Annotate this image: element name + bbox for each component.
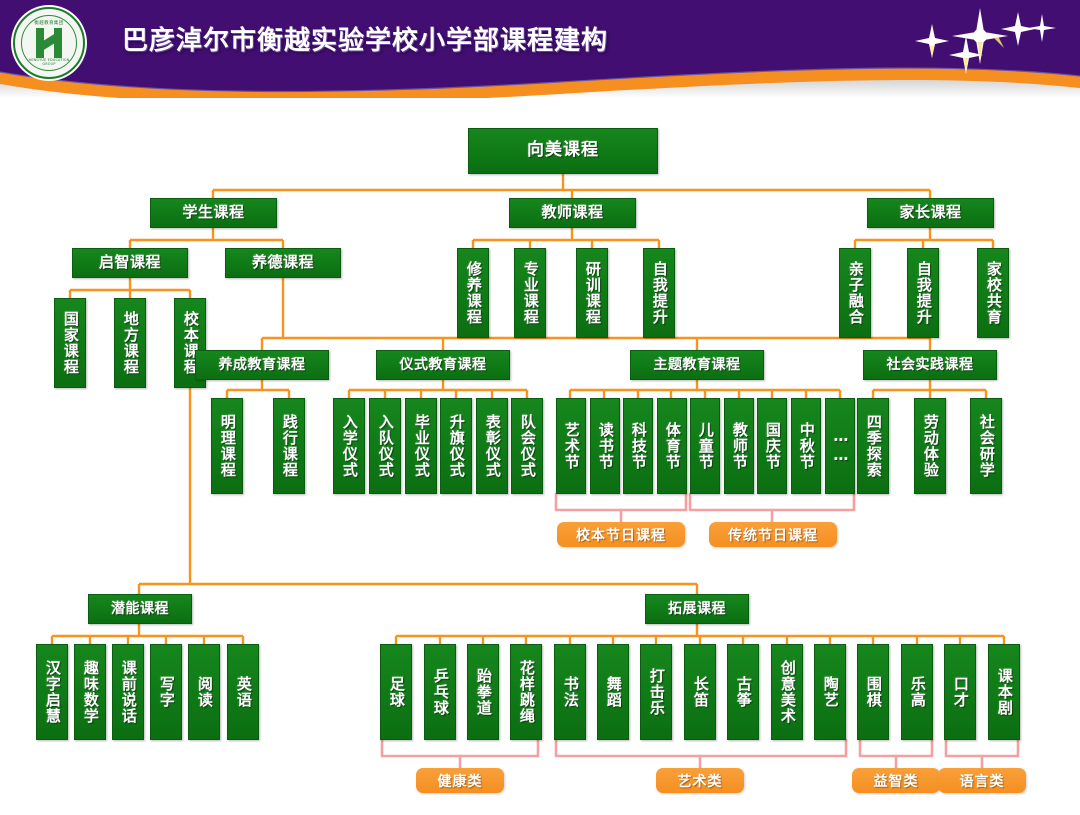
node-potential-child-3[interactable]: 写字 xyxy=(150,644,182,740)
node-label: 阅读 xyxy=(196,676,212,708)
node-expansion-child-3[interactable]: 花样跳绳 xyxy=(510,644,542,740)
node-theme-child-7[interactable]: 中秋节 xyxy=(791,398,821,494)
node-potential-child-2[interactable]: 课前说话 xyxy=(112,644,144,740)
node-ceremony-child-2[interactable]: 毕业仪式 xyxy=(405,398,437,494)
node-theme-child-8[interactable]: …… xyxy=(825,398,855,494)
tag-label: 益智类 xyxy=(874,771,919,791)
node-label: 乒乓球 xyxy=(432,668,448,716)
node-yangde-course[interactable]: 养德课程 xyxy=(225,248,341,278)
node-label: 打击乐 xyxy=(648,668,664,716)
node-parent-child-1[interactable]: 自我提升 xyxy=(907,248,939,338)
node-social-child-2[interactable]: 社会研学 xyxy=(970,398,1002,494)
node-parent-course[interactable]: 家长课程 xyxy=(867,198,994,228)
node-label: 长笛 xyxy=(692,676,708,708)
node-label: 自我提升 xyxy=(915,261,931,325)
node-theme-child-2[interactable]: 科技节 xyxy=(623,398,653,494)
tag-label: 艺术类 xyxy=(678,771,723,791)
node-label: 启智课程 xyxy=(99,255,161,271)
node-label: 乐高 xyxy=(909,676,925,708)
node-expansion-child-13[interactable]: 口才 xyxy=(944,644,976,740)
node-potential-child-0[interactable]: 汉字启慧 xyxy=(36,644,68,740)
node-expansion-child-9[interactable]: 创意美术 xyxy=(771,644,803,740)
node-label: 古筝 xyxy=(735,676,751,708)
node-label: 跆拳道 xyxy=(475,668,491,716)
node-expansion-course[interactable]: 拓展课程 xyxy=(645,594,749,624)
node-ceremony-child-4[interactable]: 表彰仪式 xyxy=(476,398,508,494)
node-label: 足球 xyxy=(388,676,404,708)
node-teacher-course[interactable]: 教师课程 xyxy=(509,198,636,228)
node-label: 毕业仪式 xyxy=(413,414,429,478)
node-social-child-0[interactable]: 四季探索 xyxy=(857,398,889,494)
node-theme-education-course[interactable]: 主题教育课程 xyxy=(630,350,764,380)
node-label: 表彰仪式 xyxy=(484,414,500,478)
page-title: 巴彦淖尔市衡越实验学校小学部课程建构 xyxy=(122,20,608,57)
node-label: 花样跳绳 xyxy=(518,660,534,724)
node-expansion-child-12[interactable]: 乐高 xyxy=(901,644,933,740)
node-label: 亲子融合 xyxy=(847,261,863,325)
node-label: 创意美术 xyxy=(779,660,795,724)
node-expansion-child-11[interactable]: 围棋 xyxy=(857,644,889,740)
node-label: 围棋 xyxy=(865,676,881,708)
node-label: 自我提升 xyxy=(651,261,667,325)
node-label: 入队仪式 xyxy=(377,414,393,478)
node-label: 践行课程 xyxy=(281,414,297,478)
node-expansion-child-6[interactable]: 打击乐 xyxy=(640,644,672,740)
node-label: 养德课程 xyxy=(252,255,314,271)
node-label: 书法 xyxy=(562,676,578,708)
node-label: 社会实践课程 xyxy=(887,358,974,373)
sparkle-decoration xyxy=(870,2,1060,78)
node-theme-child-1[interactable]: 读书节 xyxy=(590,398,620,494)
node-label: 养成教育课程 xyxy=(219,358,306,373)
node-ceremony-child-5[interactable]: 队会仪式 xyxy=(511,398,543,494)
node-label: 趣味数学 xyxy=(82,660,98,724)
tag-traditional-festival-course[interactable]: 传统节日课程 xyxy=(709,522,837,547)
node-teacher-child-1[interactable]: 专业课程 xyxy=(514,248,546,338)
node-label: 口才 xyxy=(952,676,968,708)
node-label: 向美课程 xyxy=(527,142,599,160)
logo-bottom-text: HENGYUE EDUCATION GROUP xyxy=(22,58,76,66)
node-label: 拓展课程 xyxy=(668,602,726,617)
node-label: 仪式教育课程 xyxy=(400,358,487,373)
tag-label: 校本节日课程 xyxy=(576,525,666,545)
node-potential-child-5[interactable]: 英语 xyxy=(227,644,259,740)
node-social-child-1[interactable]: 劳动体验 xyxy=(914,398,946,494)
node-label: 社会研学 xyxy=(978,414,994,478)
node-label: 写字 xyxy=(158,676,174,708)
tag-art-category[interactable]: 艺术类 xyxy=(656,768,744,793)
node-expansion-child-5[interactable]: 舞蹈 xyxy=(597,644,629,740)
node-habit-education-course[interactable]: 养成教育课程 xyxy=(195,350,329,380)
node-habit-child-1[interactable]: 践行课程 xyxy=(273,398,305,494)
node-label: 陶艺 xyxy=(822,676,838,708)
node-potential-child-4[interactable]: 阅读 xyxy=(188,644,220,740)
node-ceremony-child-1[interactable]: 入队仪式 xyxy=(369,398,401,494)
node-parent-child-2[interactable]: 家校共育 xyxy=(977,248,1009,338)
node-theme-child-4[interactable]: 儿童节 xyxy=(690,398,720,494)
node-label: 主题教育课程 xyxy=(654,358,741,373)
node-teacher-child-3[interactable]: 自我提升 xyxy=(643,248,675,338)
logo-emblem-icon xyxy=(36,28,62,58)
logo-top-text: 衡越教育集团 xyxy=(22,20,76,26)
node-label: 教师课程 xyxy=(541,205,603,221)
node-expansion-child-10[interactable]: 陶艺 xyxy=(814,644,846,740)
node-social-practice-course[interactable]: 社会实践课程 xyxy=(863,350,997,380)
node-label: …… xyxy=(832,427,848,465)
node-label: 课本剧 xyxy=(996,668,1012,716)
node-expansion-child-4[interactable]: 书法 xyxy=(554,644,586,740)
node-label: 学生课程 xyxy=(182,205,244,221)
node-root[interactable]: 向美课程 xyxy=(468,128,658,174)
node-label: 教师节 xyxy=(731,422,747,470)
node-expansion-child-2[interactable]: 跆拳道 xyxy=(467,644,499,740)
org-chart: 向美课程 学生课程 教师课程 家长课程 启智课程 养德课程 国家课程 地方课程 … xyxy=(0,98,1080,815)
node-label: 汉字启慧 xyxy=(44,660,60,724)
slide-canvas: 衡越教育集团 HENGYUE EDUCATION GROUP 巴彦淖尔市衡越实验… xyxy=(0,0,1080,815)
node-label: 舞蹈 xyxy=(605,676,621,708)
node-theme-child-0[interactable]: 艺术节 xyxy=(556,398,586,494)
node-label: 家校共育 xyxy=(985,261,1001,325)
node-potential-course[interactable]: 潜能课程 xyxy=(88,594,192,624)
node-expansion-child-14[interactable]: 课本剧 xyxy=(988,644,1020,740)
node-label: 科技节 xyxy=(630,422,646,470)
node-parent-child-0[interactable]: 亲子融合 xyxy=(839,248,871,338)
node-label: 四季探索 xyxy=(865,414,881,478)
node-label: 国庆节 xyxy=(764,422,780,470)
node-label: 英语 xyxy=(235,676,251,708)
node-label: 劳动体验 xyxy=(922,414,938,478)
node-label: 地方课程 xyxy=(122,311,138,375)
node-expansion-child-7[interactable]: 长笛 xyxy=(684,644,716,740)
node-expansion-child-0[interactable]: 足球 xyxy=(380,644,412,740)
node-potential-child-1[interactable]: 趣味数学 xyxy=(74,644,106,740)
node-teacher-child-2[interactable]: 研训课程 xyxy=(576,248,608,338)
node-label: 明理课程 xyxy=(219,414,235,478)
node-ceremony-child-3[interactable]: 升旗仪式 xyxy=(440,398,472,494)
node-label: 儿童节 xyxy=(697,422,713,470)
node-label: 队会仪式 xyxy=(519,414,535,478)
node-label: 课前说话 xyxy=(120,660,136,724)
node-habit-child-0[interactable]: 明理课程 xyxy=(211,398,243,494)
tag-label: 传统节日课程 xyxy=(728,525,818,545)
school-logo: 衡越教育集团 HENGYUE EDUCATION GROUP xyxy=(13,7,85,79)
node-label: 入学仪式 xyxy=(341,414,357,478)
node-label: 修养课程 xyxy=(465,261,481,325)
node-teacher-child-0[interactable]: 修养课程 xyxy=(457,248,489,338)
node-ceremony-child-0[interactable]: 入学仪式 xyxy=(333,398,365,494)
tag-intelligence-category[interactable]: 益智类 xyxy=(852,768,940,793)
node-theme-child-6[interactable]: 国庆节 xyxy=(757,398,787,494)
node-label: 体育节 xyxy=(664,422,680,470)
node-label: 艺术节 xyxy=(563,422,579,470)
tag-label: 健康类 xyxy=(438,771,483,791)
node-label: 中秋节 xyxy=(798,422,814,470)
node-local-curriculum[interactable]: 地方课程 xyxy=(114,298,146,388)
node-label: 家长课程 xyxy=(899,205,961,221)
node-student-course[interactable]: 学生课程 xyxy=(150,198,277,228)
node-label: 潜能课程 xyxy=(111,602,169,617)
tag-label: 语言类 xyxy=(960,771,1005,791)
logo-inner-ring: 衡越教育集团 HENGYUE EDUCATION GROUP xyxy=(21,15,77,71)
node-theme-child-5[interactable]: 教师节 xyxy=(724,398,754,494)
node-label: 研训课程 xyxy=(584,261,600,325)
node-expansion-child-1[interactable]: 乒乓球 xyxy=(424,644,456,740)
tag-health-category[interactable]: 健康类 xyxy=(416,768,504,793)
tag-school-festival-course[interactable]: 校本节日课程 xyxy=(557,522,685,547)
node-expansion-child-8[interactable]: 古筝 xyxy=(727,644,759,740)
node-national-curriculum[interactable]: 国家课程 xyxy=(54,298,86,388)
node-theme-child-3[interactable]: 体育节 xyxy=(657,398,687,494)
node-label: 专业课程 xyxy=(522,261,538,325)
node-label: 读书节 xyxy=(597,422,613,470)
node-qizhi-course[interactable]: 启智课程 xyxy=(72,248,188,278)
node-label: 国家课程 xyxy=(62,311,78,375)
page-header: 衡越教育集团 HENGYUE EDUCATION GROUP 巴彦淖尔市衡越实验… xyxy=(0,0,1080,98)
node-label: 升旗仪式 xyxy=(448,414,464,478)
tag-language-category[interactable]: 语言类 xyxy=(938,768,1026,793)
node-ceremony-education-course[interactable]: 仪式教育课程 xyxy=(376,350,510,380)
